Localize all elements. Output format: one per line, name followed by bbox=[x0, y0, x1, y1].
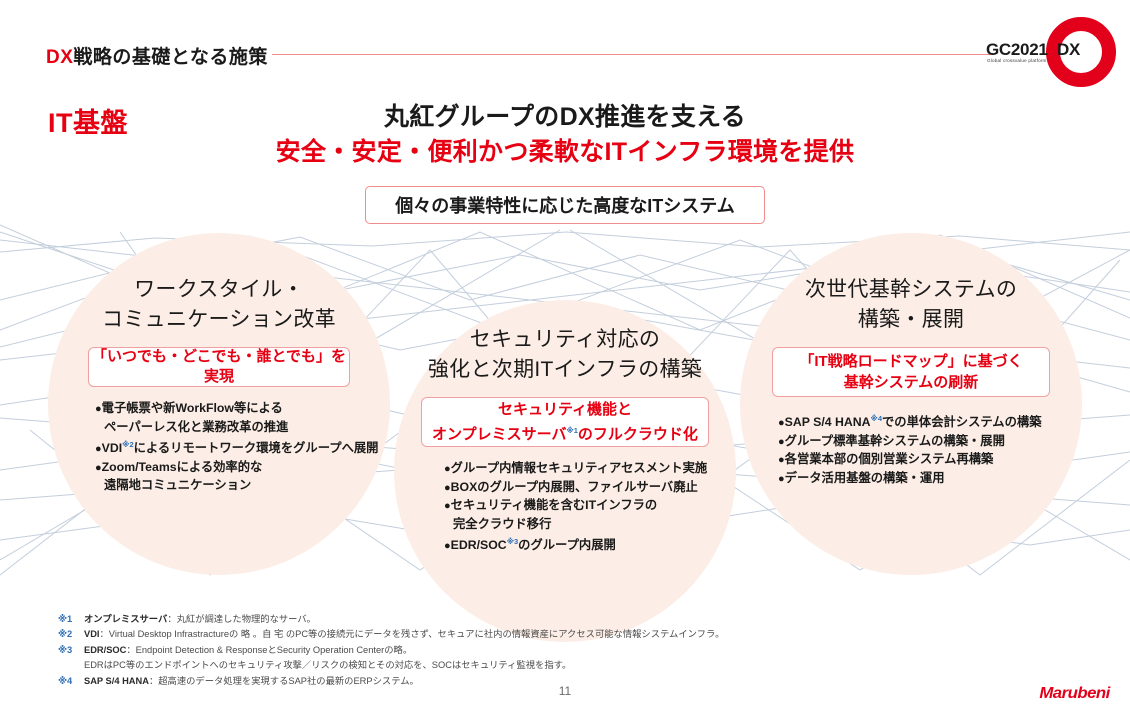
bullet-list-security: ●グループ内情報セキュリティアセスメント実施 ●BOXのグループ内展開、ファイル… bbox=[394, 460, 736, 556]
logo-wordmark: GC2021»DX bbox=[986, 40, 1080, 60]
footnote-term: EDR/SOC bbox=[84, 645, 126, 655]
bullet-list-workstyle: ●電子帳票や新WorkFlow等による ペーパーレス化と業務改革の推進 ●VDI… bbox=[48, 400, 390, 495]
list-item-text: 各営業本部の個別営業システム再構築 bbox=[785, 452, 994, 466]
list-item-subline: ペーパーレス化と業務改革の推進 bbox=[95, 419, 390, 437]
footnote-marker: ※2 bbox=[58, 627, 84, 642]
list-item: ●VDI※2によるリモートワーク環境をグループへ展開 bbox=[95, 436, 390, 459]
column-title-line-2: 強化と次期ITインフラの構築 bbox=[394, 355, 736, 385]
gc2021-dx-logo: GC2021»DX Global crossvalue platform bbox=[986, 14, 1116, 90]
footnote-row: ※2 VDI：Virtual Desktop Infrastractureの 略… bbox=[58, 627, 1058, 642]
list-item: ●グループ内情報セキュリティアセスメント実施 bbox=[444, 460, 736, 479]
column-title-line-2: 構築・展開 bbox=[740, 305, 1082, 335]
footnote-row: ※3 EDR/SOC：Endpoint Detection & Response… bbox=[58, 643, 1058, 658]
page-number: 11 bbox=[0, 684, 1130, 698]
footnote-text: VDI：Virtual Desktop Infrastractureの 略 。自… bbox=[84, 627, 724, 642]
list-item-text: EDR/SOC bbox=[451, 538, 507, 552]
footnote-ref-1: ※1 bbox=[566, 426, 577, 435]
headline-line-1: 丸紅グループのDX推進を支える bbox=[215, 100, 915, 134]
footnote-body: ：Endpoint Detection & ResponseとSecurity … bbox=[126, 645, 412, 655]
list-item: ●グループ標準基幹システムの構築・展開 bbox=[778, 433, 1082, 452]
header-title-rest: 戦略の基礎となる施策 bbox=[73, 47, 267, 68]
list-item-text: SAP S/4 HANA bbox=[785, 415, 871, 429]
footnote-term: オンプレミスサーバ bbox=[84, 614, 167, 624]
footnote-marker: ※1 bbox=[58, 612, 84, 627]
header-title-highlight: DX bbox=[46, 47, 73, 68]
header-divider-rule bbox=[272, 54, 990, 55]
column-security: セキュリティ対応の 強化と次期ITインフラの構築 セキュリティ機能と オンプレミ… bbox=[394, 325, 736, 556]
list-item-text: グループ内情報セキュリティアセスメント実施 bbox=[451, 461, 708, 475]
highlight-box-line-2: オンプレミスサーバ※1のフルクラウド化 bbox=[432, 420, 698, 445]
list-item: ●BOXのグループ内展開、ファイルサーバ廃止 bbox=[444, 479, 736, 498]
footnote-ref-3: ※3 bbox=[507, 537, 518, 546]
footnote-row: ※1 オンプレミスサーバ：丸紅が調達した物理的なサーバ。 bbox=[58, 612, 1058, 627]
highlight-box-security: セキュリティ機能と オンプレミスサーバ※1のフルクラウド化 bbox=[421, 397, 709, 447]
header-title: DX戦略の基礎となる施策 bbox=[46, 42, 268, 69]
highlight-box-line-2: 基幹システムの刷新 bbox=[799, 372, 1022, 393]
list-item: ●EDR/SOC※3のグループ内展開 bbox=[444, 533, 736, 556]
list-item-text: Zoom/Teamsによる効率的な bbox=[102, 460, 263, 474]
list-item: ●各営業本部の個別営業システム再構築 bbox=[778, 451, 1082, 470]
list-item-text: 電子帳票や新WorkFlow等による bbox=[102, 401, 283, 415]
header: DX戦略の基礎となる施策 GC2021»DX Global crossvalue… bbox=[0, 0, 1130, 90]
logo-tagline: Global crossvalue platform bbox=[987, 58, 1047, 63]
footnote-term: VDI bbox=[84, 629, 100, 639]
footnote-body: ：丸紅が調達した物理的なサーバ。 bbox=[167, 614, 316, 624]
list-item: ●Zoom/Teamsによる効率的な bbox=[95, 459, 390, 478]
list-item: ●電子帳票や新WorkFlow等による bbox=[95, 400, 390, 419]
list-item-subline: 完全クラウド移行 bbox=[444, 516, 736, 534]
list-item-text: セキュリティ機能を含むITインフラの bbox=[451, 498, 658, 512]
list-item-text: データ活用基盤の構築・運用 bbox=[785, 471, 945, 485]
headline-block: 丸紅グループのDX推進を支える 安全・安定・便利かつ柔軟なITインフラ環境を提供 bbox=[215, 100, 915, 170]
column-title-line-2: コミュニケーション改革 bbox=[48, 305, 390, 335]
list-item-text: VDI bbox=[102, 441, 123, 455]
footnote-ref-4: ※4 bbox=[871, 414, 882, 423]
list-item-text-after: のグループ内展開 bbox=[518, 538, 616, 552]
footnote-continuation: EDRはPC等のエンドポイントへのセキュリティ攻撃／リスクの検知とその対応を、S… bbox=[58, 658, 1058, 673]
column-core-system: 次世代基幹システムの 構築・展開 「IT戦略ロードマップ」に基づく 基幹システム… bbox=[740, 275, 1082, 488]
list-item: ●SAP S/4 HANA※4での単体会計システムの構築 bbox=[778, 410, 1082, 433]
logo-wordmark-left: GC2021 bbox=[986, 40, 1048, 59]
list-item-text: グループ標準基幹システムの構築・展開 bbox=[785, 434, 1005, 448]
footnote-ref-2: ※2 bbox=[122, 440, 133, 449]
highlight-box-workstyle: 「いつでも・どこでも・誰とでも」を実現 bbox=[88, 347, 350, 387]
slide-root: DX戦略の基礎となる施策 GC2021»DX Global crossvalue… bbox=[0, 0, 1130, 720]
column-title-line-1: ワークスタイル・ bbox=[48, 275, 390, 305]
headline-line-2: 安全・安定・便利かつ柔軟なITインフラ環境を提供 bbox=[215, 134, 915, 170]
highlight-box-line-2-pre: オンプレミスサーバ bbox=[432, 426, 566, 443]
highlight-box-line-2-post: のフルクラウド化 bbox=[578, 426, 698, 443]
column-title-workstyle: ワークスタイル・ コミュニケーション改革 bbox=[48, 275, 390, 335]
list-item-text-after: での単体会計システムの構築 bbox=[882, 415, 1042, 429]
bullet-list-core-system: ●SAP S/4 HANA※4での単体会計システムの構築 ●グループ標準基幹シス… bbox=[740, 410, 1082, 488]
column-title-line-1: セキュリティ対応の bbox=[394, 325, 736, 355]
highlight-box-line-1: 「いつでも・どこでも・誰とでも」を実現 bbox=[89, 347, 349, 387]
footnote-text: オンプレミスサーバ：丸紅が調達した物理的なサーバ。 bbox=[84, 612, 316, 627]
logo-chevron-icon: » bbox=[1049, 40, 1055, 60]
highlight-box-line-1: 「IT戦略ロードマップ」に基づく bbox=[799, 351, 1022, 372]
footnote-text: EDR/SOC：Endpoint Detection & ResponseとSe… bbox=[84, 643, 412, 658]
list-item-text: BOXのグループ内展開、ファイルサーバ廃止 bbox=[451, 480, 698, 494]
highlight-box-core-system: 「IT戦略ロードマップ」に基づく 基幹システムの刷新 bbox=[772, 347, 1050, 397]
list-item: ●セキュリティ機能を含むITインフラの bbox=[444, 497, 736, 516]
list-item: ●データ活用基盤の構築・運用 bbox=[778, 470, 1082, 489]
footnotes-block: ※1 オンプレミスサーバ：丸紅が調達した物理的なサーバ。 ※2 VDI：Virt… bbox=[58, 612, 1058, 689]
column-workstyle: ワークスタイル・ コミュニケーション改革 「いつでも・どこでも・誰とでも」を実現… bbox=[48, 275, 390, 495]
top-highlight-pill: 個々の事業特性に応じた高度なITシステム bbox=[365, 186, 765, 224]
footnote-marker: ※3 bbox=[58, 643, 84, 658]
column-title-security: セキュリティ対応の 強化と次期ITインフラの構築 bbox=[394, 325, 736, 385]
footnote-body: ：Virtual Desktop Infrastractureの 略 。自 宅 … bbox=[100, 629, 725, 639]
list-item-subline: 遠隔地コミュニケーション bbox=[95, 477, 390, 495]
column-title-line-1: 次世代基幹システムの bbox=[740, 275, 1082, 305]
highlight-box-line-1: セキュリティ機能と bbox=[432, 399, 698, 420]
logo-wordmark-right: DX bbox=[1057, 40, 1080, 59]
marubeni-logo: Marubeni bbox=[1039, 685, 1109, 703]
column-title-core-system: 次世代基幹システムの 構築・展開 bbox=[740, 275, 1082, 335]
section-label: IT基盤 bbox=[48, 101, 128, 140]
list-item-text-after: によるリモートワーク環境をグループへ展開 bbox=[134, 441, 379, 455]
